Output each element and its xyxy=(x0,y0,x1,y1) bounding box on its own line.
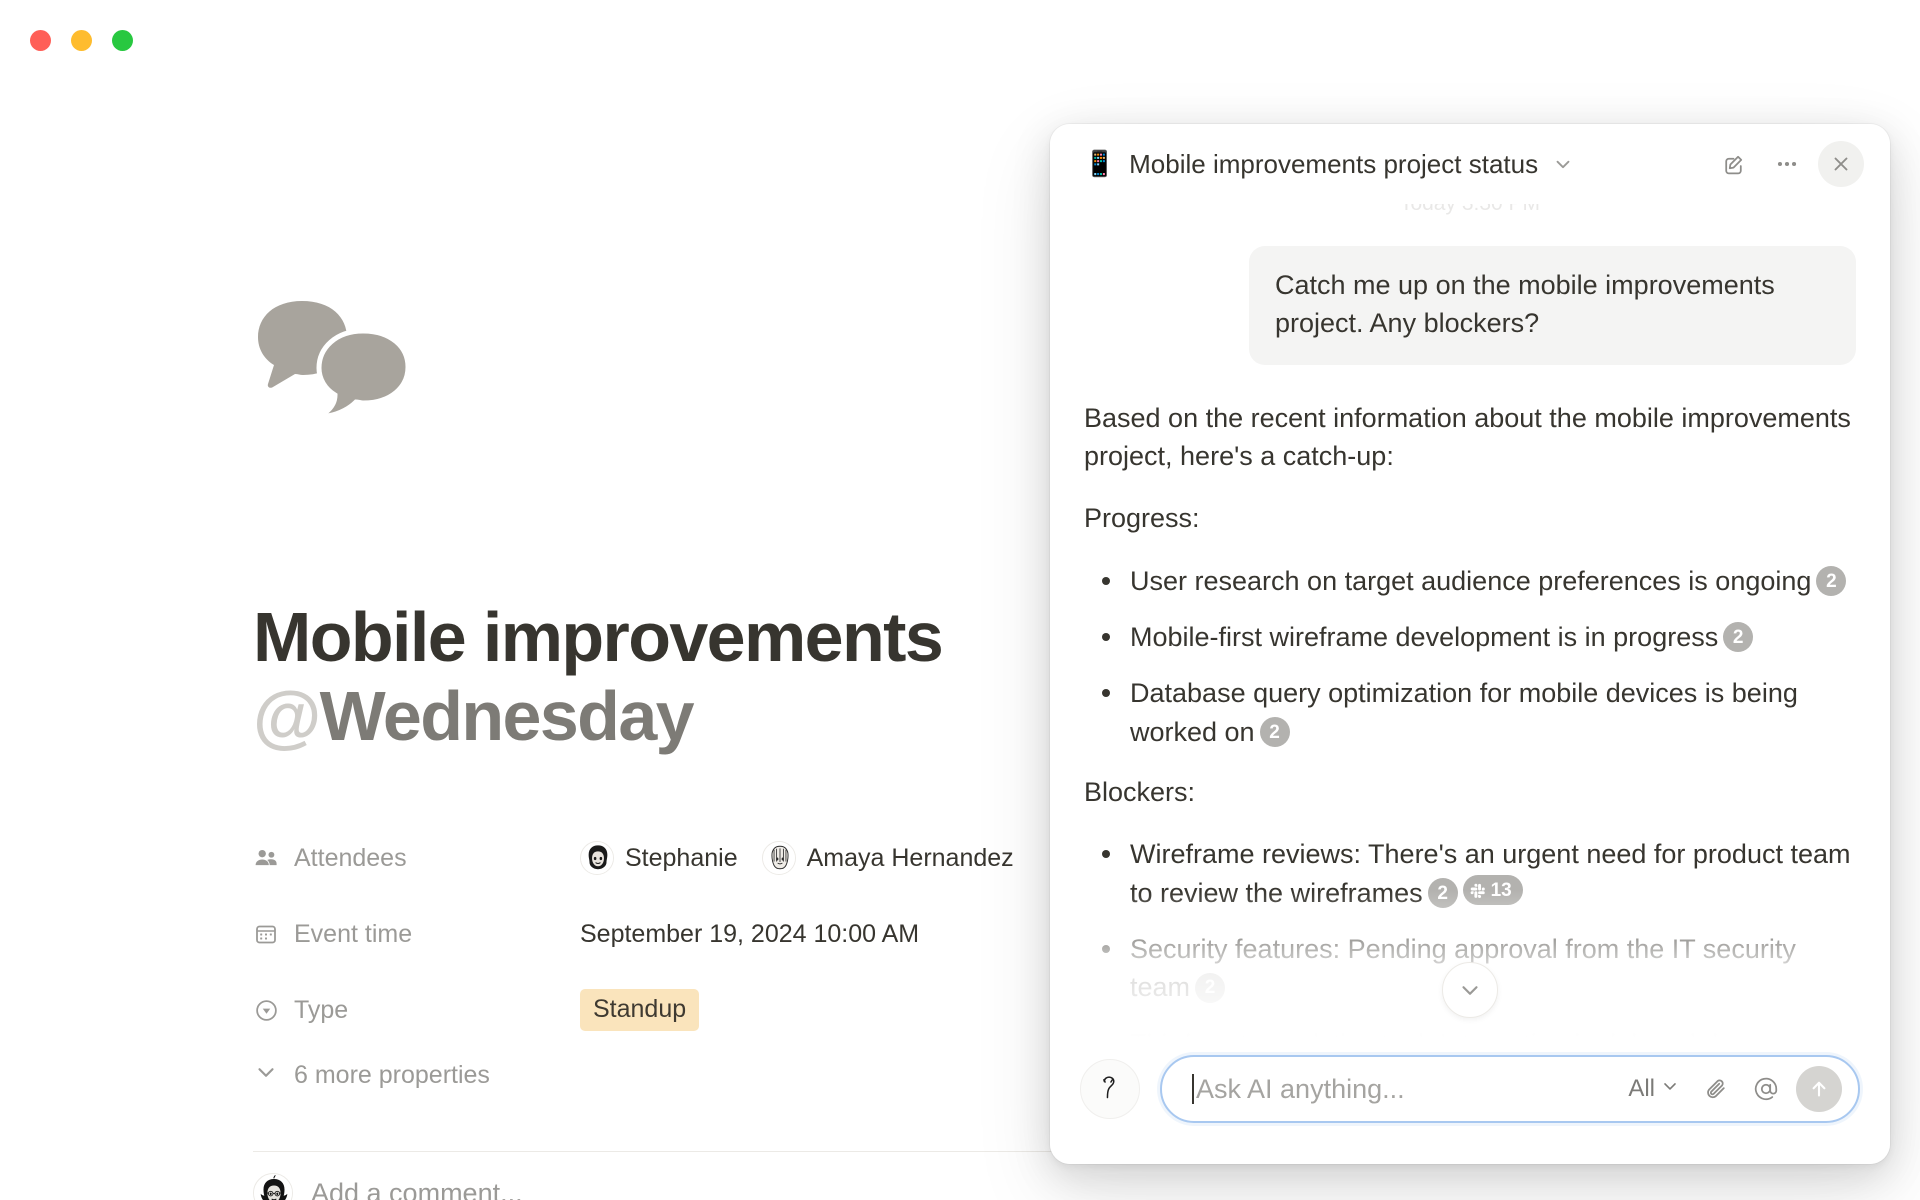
ai-chat-title: Mobile improvements project status xyxy=(1129,149,1538,180)
list-item-text: User research on target audience prefere… xyxy=(1130,566,1811,596)
at-mention-icon[interactable] xyxy=(1744,1067,1788,1111)
citation-badge-slack[interactable]: 13 xyxy=(1463,875,1523,905)
ai-panel-header: 📱 Mobile improvements project status xyxy=(1050,124,1890,204)
assistant-list-item: User research on target audience prefere… xyxy=(1084,562,1856,600)
citation-badge[interactable]: 2 xyxy=(1428,878,1458,908)
property-label-attendees: Attendees xyxy=(253,845,580,871)
attendee-name: Stephanie xyxy=(625,844,738,873)
mobile-phone-icon: 📱 xyxy=(1084,152,1115,177)
ai-panel-actions xyxy=(1710,141,1864,187)
app-window: Mobile improvements @Wednesday Attendees xyxy=(0,0,1920,1200)
property-value-type: Standup xyxy=(580,989,699,1031)
window-controls xyxy=(30,30,133,51)
search-input[interactable]: Ask AI anything... xyxy=(1192,1074,1614,1105)
assistant-section-heading-blockers: Blockers: xyxy=(1084,773,1856,811)
citation-badge[interactable]: 2 xyxy=(1195,973,1225,1003)
user-message-bubble: Catch me up on the mobile improvements p… xyxy=(1249,246,1856,365)
add-comment-placeholder[interactable]: Add a comment... xyxy=(311,1178,523,1200)
ai-composer-bar: Ask AI anything... All xyxy=(1050,1040,1890,1164)
list-item-text: Mobile-first wireframe development is in… xyxy=(1130,622,1718,652)
property-value-attendees: Stephanie xyxy=(580,841,1038,875)
list-item-text: Third-party analytics tool: Integration … xyxy=(1130,1029,1748,1040)
attendee-name: Amaya Hernandez xyxy=(807,844,1014,873)
text-caret xyxy=(1192,1074,1194,1104)
avatar-current-user xyxy=(253,1173,293,1200)
compose-icon[interactable] xyxy=(1710,141,1756,187)
paperclip-icon[interactable] xyxy=(1694,1067,1738,1111)
assistant-section-heading-progress: Progress: xyxy=(1084,499,1856,537)
ai-sparkle-icon[interactable] xyxy=(1080,1059,1140,1119)
ai-input-container[interactable]: Ask AI anything... All xyxy=(1160,1055,1860,1123)
window-close-button[interactable] xyxy=(30,30,51,51)
add-comment-row[interactable]: Add a comment... xyxy=(253,1173,523,1200)
ai-chat-panel: 📱 Mobile improvements project status xyxy=(1050,124,1890,1164)
people-icon xyxy=(253,845,279,871)
property-label-text: Type xyxy=(294,998,348,1023)
window-zoom-button[interactable] xyxy=(112,30,133,51)
slack-icon xyxy=(1470,882,1487,899)
message-timestamp: Today 3:30 PM xyxy=(1084,204,1856,216)
citation-count: 13 xyxy=(1491,881,1512,900)
scope-label: All xyxy=(1628,1075,1655,1103)
assistant-list-item: Database query optimization for mobile d… xyxy=(1084,674,1856,751)
more-properties-label: 6 more properties xyxy=(294,1061,490,1090)
select-icon xyxy=(253,997,279,1023)
property-label-type: Type xyxy=(253,997,580,1023)
assistant-list-item: Mobile-first wireframe development is in… xyxy=(1084,618,1856,656)
ai-conversation-scroll[interactable]: Today 3:30 PM Catch me up on the mobile … xyxy=(1050,204,1890,1040)
assistant-list-progress: User research on target audience prefere… xyxy=(1084,562,1856,751)
close-icon[interactable] xyxy=(1818,141,1864,187)
speech-bubbles-icon xyxy=(255,298,423,418)
page-title-text: Mobile improvements xyxy=(253,598,942,676)
attendee-chip[interactable]: Stephanie xyxy=(580,841,738,875)
window-minimize-button[interactable] xyxy=(71,30,92,51)
assistant-list-item: Wireframe reviews: There's an urgent nee… xyxy=(1084,835,1856,912)
avatar-amaya xyxy=(762,841,796,875)
property-label-text: Attendees xyxy=(294,846,407,871)
property-label-event-time: Event time xyxy=(253,921,580,947)
attendee-chip[interactable]: Amaya Hernandez xyxy=(762,841,1014,875)
mention-label: Wednesday xyxy=(320,677,693,755)
window-titlebar xyxy=(0,0,1920,76)
property-label-text: Event time xyxy=(294,922,412,947)
property-value-event-time: September 19, 2024 10:00 AM xyxy=(580,920,919,949)
chevron-down-icon xyxy=(253,1059,279,1092)
assistant-list-item: Third-party analytics tool: Integration … xyxy=(1084,1025,1856,1040)
ai-conversation: Today 3:30 PM Catch me up on the mobile … xyxy=(1050,204,1890,1040)
avatar-stephanie xyxy=(580,841,614,875)
citation-badge[interactable]: 2 xyxy=(1723,622,1753,652)
chevron-down-icon xyxy=(1660,1075,1680,1103)
ai-chat-title-button[interactable]: 📱 Mobile improvements project status xyxy=(1084,149,1710,180)
assistant-message: Based on the recent information about th… xyxy=(1084,399,1856,1040)
scope-dropdown[interactable]: All xyxy=(1620,1075,1688,1103)
list-item-text: Database query optimization for mobile d… xyxy=(1130,678,1798,746)
mention-at-symbol: @ xyxy=(253,677,320,755)
calendar-icon xyxy=(253,921,279,947)
scroll-to-bottom-button[interactable] xyxy=(1442,962,1498,1018)
more-icon[interactable] xyxy=(1764,141,1810,187)
send-arrow-icon[interactable] xyxy=(1796,1066,1842,1112)
assistant-intro: Based on the recent information about th… xyxy=(1084,399,1856,476)
status-badge[interactable]: Standup xyxy=(580,989,699,1031)
citation-badge[interactable]: 2 xyxy=(1260,717,1290,747)
chevron-down-icon xyxy=(1552,153,1574,175)
citation-badge[interactable]: 2 xyxy=(1816,566,1846,596)
ai-input-placeholder: Ask AI anything... xyxy=(1196,1074,1405,1105)
